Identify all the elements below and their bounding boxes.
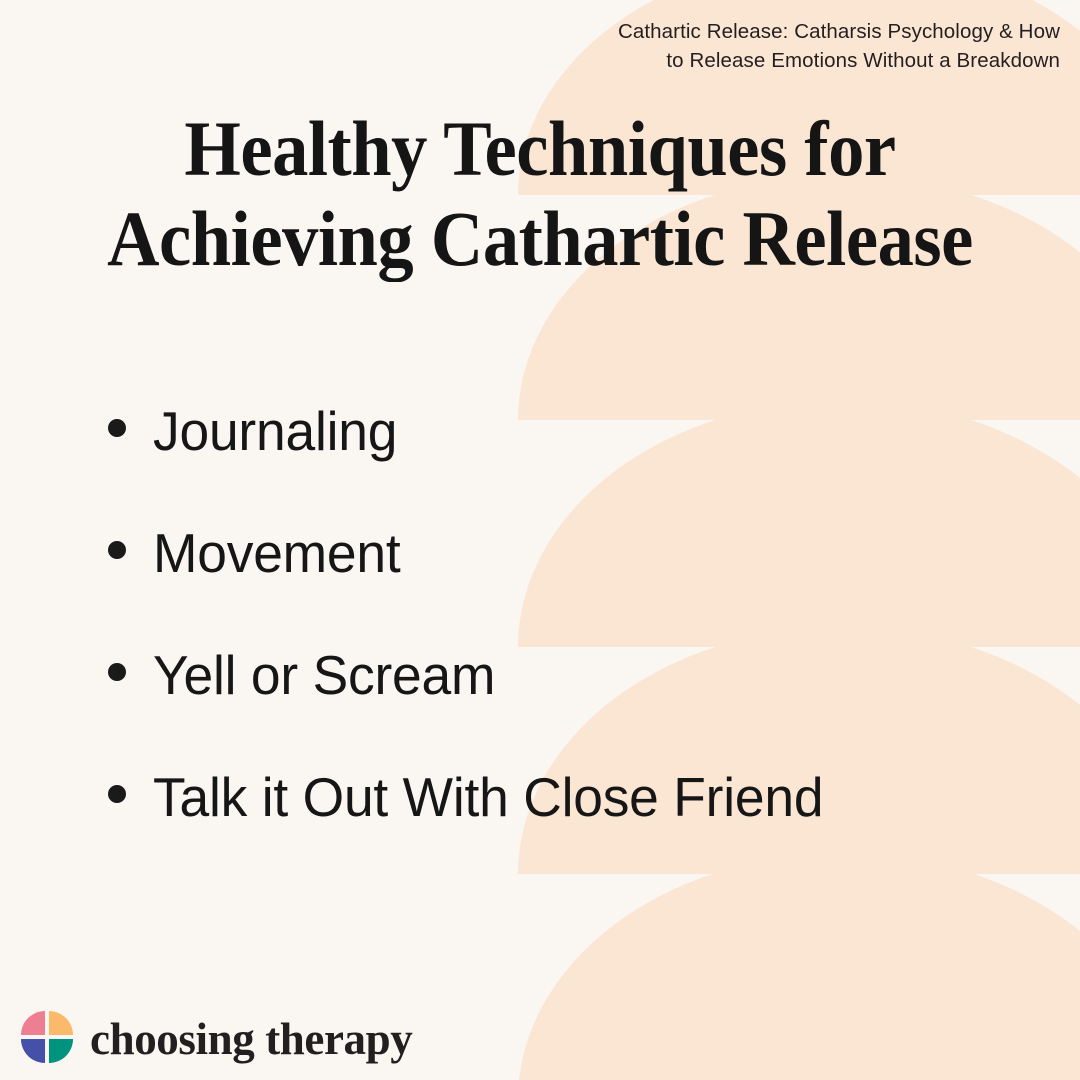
technique-label: Journaling xyxy=(153,404,397,459)
brand-wordmark: choosing therapy xyxy=(90,1017,412,1062)
technique-label: Talk it Out With Close Friend xyxy=(153,770,823,825)
bullet-dot-icon xyxy=(108,541,126,559)
caption-line-1: Cathartic Release: Catharsis Psychology … xyxy=(540,17,1060,46)
technique-label: Yell or Scream xyxy=(153,648,495,703)
bullet-dot-icon xyxy=(108,785,126,803)
bullet-dot-icon xyxy=(108,419,126,437)
article-title-caption: Cathartic Release: Catharsis Psychology … xyxy=(540,17,1060,75)
list-item: Talk it Out With Close Friend xyxy=(108,770,1008,892)
technique-label: Movement xyxy=(153,526,401,581)
title-line-2: Achieving Cathartic Release xyxy=(38,194,1042,284)
choosing-therapy-quadrant-logo-icon xyxy=(21,1011,73,1063)
techniques-list: Journaling Movement Yell or Scream Talk … xyxy=(108,404,1008,892)
list-item: Movement xyxy=(108,526,1008,648)
infographic-canvas: Cathartic Release: Catharsis Psychology … xyxy=(0,0,1080,1080)
title-line-1: Healthy Techniques for xyxy=(38,104,1042,194)
caption-line-2: to Release Emotions Without a Breakdown xyxy=(540,46,1060,75)
page-title: Healthy Techniques for Achieving Cathart… xyxy=(0,104,1080,285)
list-item: Yell or Scream xyxy=(108,648,1008,770)
bullet-dot-icon xyxy=(108,663,126,681)
list-item: Journaling xyxy=(108,404,1008,526)
brand-logo[interactable]: choosing therapy xyxy=(21,1011,412,1063)
